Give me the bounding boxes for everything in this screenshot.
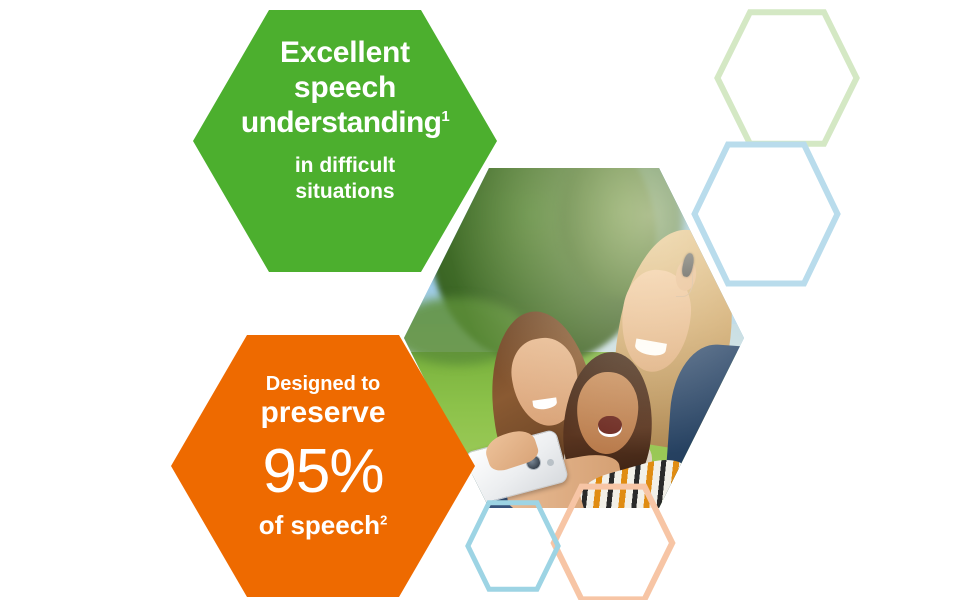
- green-headline-line-2: speech: [201, 71, 489, 106]
- orange-big-statistic: 95%: [179, 441, 467, 503]
- hexagon-outline-blue-bottom-icon: [465, 500, 561, 592]
- green-subheadline: in difficult situations: [201, 153, 489, 203]
- green-headline-line-3: understanding1: [201, 106, 489, 141]
- orange-line-4: of speech2: [179, 511, 467, 540]
- hexagon-marketing-banner: Excellent speech understanding1 in diffi…: [0, 0, 960, 600]
- green-message-hexagon: Excellent speech understanding1 in diffi…: [193, 10, 497, 272]
- hexagon-outline-blue-top-icon: [690, 140, 842, 288]
- orange-line-4-text: of speech: [259, 510, 380, 540]
- orange-hexagon-text-block: Designed to preserve 95% of speech2: [171, 373, 475, 540]
- green-subheadline-line-2: situations: [201, 179, 489, 204]
- hexagon-outline-peach-icon: [550, 483, 676, 600]
- green-headline-line-3-text: understanding: [241, 106, 442, 139]
- green-subheadline-line-1: in difficult: [201, 153, 489, 178]
- orange-footnote: 2: [380, 512, 387, 527]
- green-headline: Excellent speech understanding1: [201, 36, 489, 140]
- green-headline-line-1: Excellent: [201, 36, 489, 71]
- green-hexagon-text-block: Excellent speech understanding1 in diffi…: [193, 36, 497, 204]
- photo-girl-centre-open-mouth: [598, 416, 622, 436]
- green-headline-footnote: 1: [441, 108, 449, 125]
- orange-line-2: preserve: [179, 396, 467, 429]
- hexagon-outline-green-icon: [713, 8, 861, 148]
